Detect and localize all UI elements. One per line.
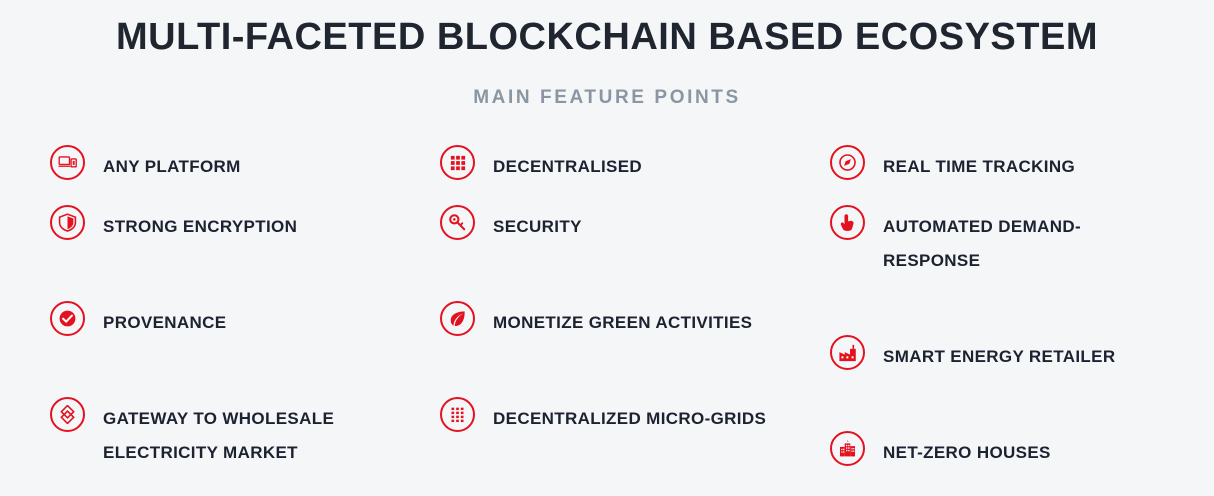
feature-column-3: REAL TIME TRACKING AUTOMATED DEMAND-RESP… bbox=[780, 150, 1170, 496]
group-spacer bbox=[440, 270, 780, 306]
feature-label: REAL TIME TRACKING bbox=[883, 150, 1075, 184]
feature-label: MONETIZE GREEN ACTIVITIES bbox=[493, 306, 752, 340]
feature-label: PROVENANCE bbox=[103, 306, 226, 340]
group-spacer bbox=[440, 366, 780, 402]
feature-item[interactable]: SECURITY bbox=[440, 210, 780, 244]
feature-group: MONETIZE GREEN ACTIVITIES bbox=[440, 306, 780, 340]
leaf-icon bbox=[440, 301, 475, 336]
feature-item[interactable]: DECENTRALISED bbox=[440, 150, 780, 184]
page-title: MULTI-FACETED BLOCKCHAIN BASED ECOSYSTEM bbox=[0, 0, 1214, 60]
feature-column-2: DECENTRALISED SECURITY bbox=[390, 150, 780, 496]
feature-item[interactable]: DECENTRALIZED MICRO-GRIDS bbox=[440, 402, 780, 436]
feature-item[interactable]: ANY PLATFORM bbox=[50, 150, 390, 184]
interlocking-diamonds-icon bbox=[50, 397, 85, 432]
feature-item[interactable]: GATEWAY TO WHOLESALE ELECTRICITY MARKET bbox=[50, 402, 390, 470]
dot-grid-icon bbox=[440, 397, 475, 432]
key-icon bbox=[440, 205, 475, 240]
feature-item[interactable]: PROVENANCE bbox=[50, 306, 390, 340]
feature-label: DECENTRALIZED MICRO-GRIDS bbox=[493, 402, 766, 436]
feature-item[interactable]: NET-ZERO HOUSES bbox=[830, 436, 1170, 470]
feature-group: GATEWAY TO WHOLESALE ELECTRICITY MARKET bbox=[50, 402, 390, 470]
feature-label: AUTOMATED DEMAND-RESPONSE bbox=[883, 210, 1170, 278]
feature-label: DECENTRALISED bbox=[493, 150, 642, 184]
feature-label: SMART ENERGY RETAILER bbox=[883, 340, 1115, 374]
feature-label: ANY PLATFORM bbox=[103, 150, 241, 184]
factory-icon bbox=[830, 335, 865, 370]
feature-label: STRONG ENCRYPTION bbox=[103, 210, 297, 244]
feature-group: SMART ENERGY RETAILER bbox=[830, 340, 1170, 374]
feature-points-page: MULTI-FACETED BLOCKCHAIN BASED ECOSYSTEM… bbox=[0, 0, 1214, 484]
feature-group: DECENTRALIZED MICRO-GRIDS bbox=[440, 402, 780, 436]
compass-icon bbox=[830, 145, 865, 180]
group-spacer bbox=[50, 366, 390, 402]
pointing-hand-icon bbox=[830, 205, 865, 240]
page-subtitle: MAIN FEATURE POINTS bbox=[0, 60, 1214, 109]
shield-icon bbox=[50, 205, 85, 240]
feature-group: ANY PLATFORM STRONG ENCRYPTION bbox=[50, 150, 390, 244]
building-icon bbox=[830, 431, 865, 466]
feature-group: NET-ZERO HOUSES bbox=[830, 436, 1170, 470]
block-grid-icon bbox=[440, 145, 475, 180]
feature-group: PROVENANCE bbox=[50, 306, 390, 340]
feature-column-1: ANY PLATFORM STRONG ENCRYPTION bbox=[0, 150, 390, 496]
feature-label: NET-ZERO HOUSES bbox=[883, 436, 1051, 470]
group-spacer bbox=[50, 270, 390, 306]
feature-grid: ANY PLATFORM STRONG ENCRYPTION bbox=[0, 150, 1214, 496]
feature-item[interactable]: STRONG ENCRYPTION bbox=[50, 210, 390, 244]
check-circle-icon bbox=[50, 301, 85, 336]
feature-label: SECURITY bbox=[493, 210, 582, 244]
devices-icon bbox=[50, 145, 85, 180]
feature-item[interactable]: REAL TIME TRACKING bbox=[830, 150, 1170, 184]
feature-label: GATEWAY TO WHOLESALE ELECTRICITY MARKET bbox=[103, 402, 390, 470]
group-spacer bbox=[830, 400, 1170, 436]
feature-item[interactable]: MONETIZE GREEN ACTIVITIES bbox=[440, 306, 780, 340]
group-spacer bbox=[830, 304, 1170, 340]
feature-item[interactable]: AUTOMATED DEMAND-RESPONSE bbox=[830, 210, 1170, 278]
feature-item[interactable]: SMART ENERGY RETAILER bbox=[830, 340, 1170, 374]
feature-group: REAL TIME TRACKING AUTOMATED DEMAND-RESP… bbox=[830, 150, 1170, 278]
feature-group: DECENTRALISED SECURITY bbox=[440, 150, 780, 244]
